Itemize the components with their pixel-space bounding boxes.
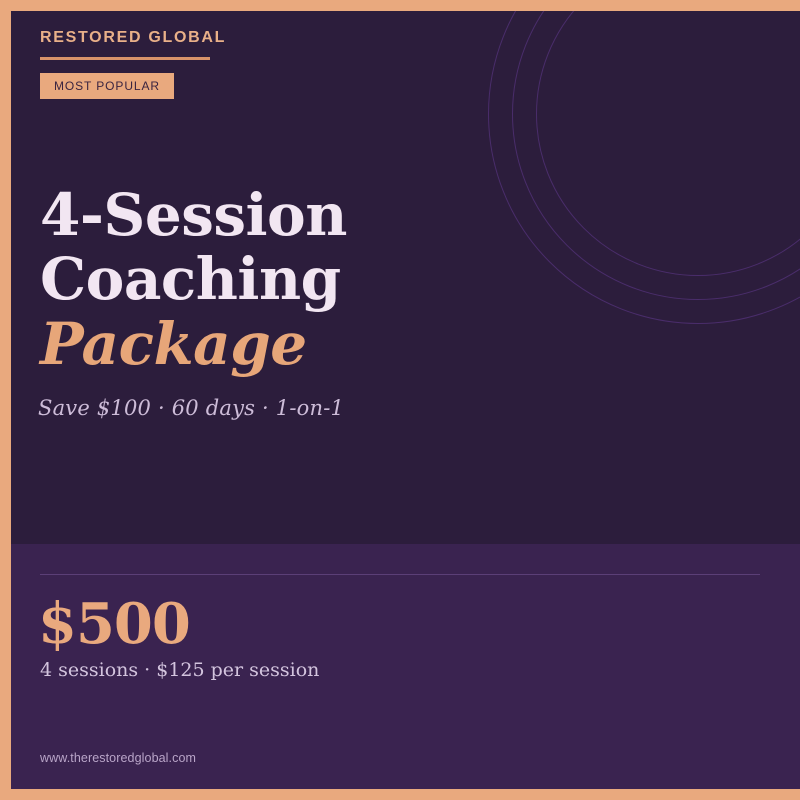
frame-border-bottom	[0, 789, 800, 800]
page-title: 4-Session Coaching Package	[40, 183, 560, 376]
headline-accent-line: Package	[40, 312, 560, 376]
card-content: RESTORED GLOBAL MOST POPULAR 4-Session C…	[0, 0, 800, 800]
price-amount: $500	[38, 596, 190, 652]
price-breakdown-note: 4 sessions · $125 per session	[40, 659, 319, 681]
subtitle-benefits: Save $100 · 60 days · 1-on-1	[38, 396, 344, 420]
status-badge-most-popular: MOST POPULAR	[40, 73, 174, 99]
brand-block: RESTORED GLOBAL	[40, 30, 226, 60]
brand-underline-rule	[40, 57, 210, 60]
headline-line-1: 4-Session	[40, 183, 560, 247]
headline-line-2: Coaching	[40, 247, 560, 311]
footer-website-url: www.therestoredglobal.com	[40, 751, 196, 765]
brand-name: RESTORED GLOBAL	[40, 30, 226, 46]
pricing-card: RESTORED GLOBAL MOST POPULAR 4-Session C…	[0, 0, 800, 800]
frame-border-top	[0, 0, 800, 11]
price-section-divider	[40, 574, 760, 575]
frame-border-left	[0, 0, 11, 800]
